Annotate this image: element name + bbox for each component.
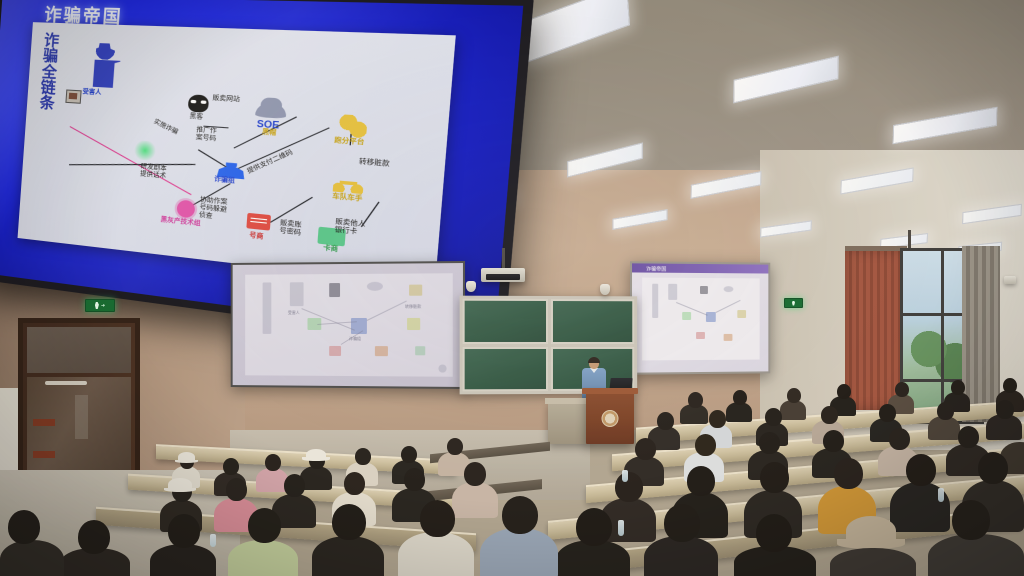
audience-member	[635, 438, 656, 460]
audience-member	[937, 402, 954, 420]
water-bottle	[210, 534, 216, 547]
audience-member	[733, 390, 747, 405]
ghost-figure	[375, 346, 388, 356]
audience-member	[928, 534, 1024, 576]
audience-member-cap	[306, 449, 326, 460]
water-bottle	[618, 520, 624, 536]
ceiling-projector	[481, 268, 525, 282]
blackboard-panel	[463, 299, 548, 344]
audience-member	[248, 508, 281, 543]
audience-member-cap	[846, 516, 896, 546]
audience-member	[420, 500, 455, 537]
audience-member	[787, 388, 801, 403]
audience-member	[398, 532, 474, 576]
node-label-sell-acct: 贩卖账 号密码	[279, 221, 302, 239]
audience-member	[226, 478, 247, 501]
right-projection-screen: 诈骗帝国	[630, 261, 770, 374]
audience-member	[978, 452, 1008, 484]
node-label-sell-site: 贩卖网站	[212, 96, 240, 105]
running-man-icon	[792, 301, 795, 306]
green-glow-icon	[132, 140, 157, 161]
audience-member	[615, 472, 643, 502]
node-label-fraud-group: 诈骗组	[214, 177, 235, 186]
audience-member-cap	[178, 452, 195, 462]
flow-edge-assist-to-group	[191, 183, 230, 206]
node-label-transfer: 转移赃款	[359, 159, 390, 169]
flow-edge-bankcard-to-runner	[361, 202, 380, 228]
audience-member	[834, 458, 863, 489]
audience-member	[452, 482, 498, 518]
wall-speaker	[600, 284, 610, 295]
audience-member	[447, 438, 463, 455]
audience-member	[0, 540, 64, 576]
audience-member	[502, 496, 538, 534]
door-glass-panel	[27, 327, 131, 373]
coins-icon	[338, 114, 367, 139]
audience-member	[344, 472, 365, 495]
audience-member	[726, 402, 752, 422]
audience-member	[823, 430, 844, 452]
node-label-pay-qr: 提供支付二维码	[246, 150, 294, 177]
audience-member	[709, 410, 726, 428]
audience-member	[830, 548, 916, 576]
audience-member	[228, 540, 298, 576]
node-label-tech-support: 黑灰产技术组	[160, 217, 200, 229]
flow-edge-numdealer-to-runner	[270, 197, 313, 223]
ghost-label: 转移赃款	[405, 304, 421, 310]
ghost-figure	[668, 284, 677, 300]
audience-member	[996, 400, 1014, 419]
ghost-figure	[367, 282, 383, 291]
ghost-badge	[438, 364, 446, 372]
node-label-commit-fraud: 实施诈骗	[152, 119, 179, 137]
door-notice-sign	[33, 419, 55, 426]
side-table	[548, 402, 590, 444]
node-label-assist: 协助作案 号码躲避 侦查	[199, 197, 228, 222]
audience-member	[889, 428, 910, 450]
green-card-icon	[317, 227, 346, 247]
audience-member	[765, 408, 782, 426]
blinds-track	[845, 246, 907, 251]
projection-header-title: 诈骗帝国	[632, 263, 768, 273]
flow-edge-group-to-coins	[234, 127, 329, 170]
audience-member	[1003, 378, 1017, 393]
ghost-label: 诈骗组	[349, 336, 361, 342]
ghost-figure	[706, 312, 716, 322]
audience-member	[78, 520, 110, 554]
vertical-char: 骗	[37, 48, 64, 65]
speaking-podium	[586, 392, 634, 444]
door-push-plate[interactable]	[75, 395, 88, 439]
audience-member	[906, 454, 936, 486]
audience-member	[644, 536, 718, 576]
audience-member	[958, 426, 979, 448]
audience-member	[404, 468, 425, 491]
flow-edge-hacker-to-site	[203, 126, 228, 129]
slide-header-title: 诈骗帝国	[44, 0, 124, 28]
red-card-icon	[246, 213, 271, 231]
ghost-figure	[682, 312, 691, 320]
water-bottle	[622, 470, 628, 482]
ghost-vertical-title	[263, 282, 272, 333]
projector-lens	[486, 274, 519, 280]
exit-sign	[784, 298, 803, 308]
audience-member	[895, 382, 909, 397]
exit-sign: ➜	[85, 299, 115, 312]
ghost-figure	[290, 282, 304, 306]
scooter-icon	[333, 176, 364, 195]
podium-top	[582, 388, 638, 394]
water-bottle	[938, 488, 944, 502]
audience-member	[355, 448, 371, 465]
exit-arrow-icon: ➜	[101, 303, 105, 309]
projector-mount-rod	[502, 248, 505, 270]
audience-member	[312, 536, 384, 576]
node-label-sell-bank: 贩卖他人 银行卡	[334, 219, 365, 238]
audience-member	[464, 462, 486, 486]
vertical-char: 条	[34, 95, 61, 112]
audience-member	[687, 466, 715, 496]
audience-member	[695, 434, 716, 456]
audience-member	[688, 392, 703, 408]
ghost-figure	[409, 285, 422, 296]
wall-speaker	[466, 281, 476, 292]
vertical-char: 链	[35, 79, 62, 96]
audience-member	[756, 514, 792, 552]
businessman-icon	[87, 43, 122, 88]
audience-member	[332, 504, 366, 540]
running-man-icon	[95, 302, 99, 309]
victim-photo-icon	[65, 89, 81, 103]
ghost-vertical-title	[652, 284, 658, 318]
audience-member	[150, 544, 216, 576]
ghost-figure	[329, 283, 340, 297]
hacker-mask-icon	[188, 94, 210, 113]
audience-member	[480, 528, 558, 576]
left-projection-screen: 受害人 诈骗组 转移赃款	[231, 261, 465, 389]
gear-icon	[176, 199, 195, 218]
blue-avatar-icon	[217, 151, 247, 180]
projection-header-bar: 诈骗帝国	[632, 263, 768, 273]
ghost-figure	[329, 346, 341, 356]
audience-member	[951, 380, 965, 395]
window-mullion	[941, 251, 944, 421]
node-label-seo-sub: 黑帽	[262, 130, 277, 139]
node-label-seo: SOE	[256, 118, 279, 131]
audience-member	[168, 514, 200, 548]
ghost-label: 受害人	[288, 310, 300, 316]
audience-member	[576, 508, 612, 546]
node-label-promote-num: 推广作 案号码	[195, 127, 217, 143]
audience-member	[265, 454, 281, 471]
flow-edge-hacker-to-group	[198, 149, 229, 169]
flow-edge-script-to-group	[69, 164, 195, 165]
vertical-char: 诈	[38, 33, 65, 50]
ghost-figure	[415, 346, 425, 355]
wall-speaker	[1004, 276, 1016, 284]
audience-member	[657, 412, 674, 430]
officer-hair	[588, 357, 600, 363]
node-label-coins: 跑分平台	[334, 138, 365, 148]
audience-member-cap	[168, 478, 192, 491]
ghost-figure	[724, 286, 734, 292]
audience-member	[780, 400, 806, 420]
flow-edge-fraud-to-victim	[69, 126, 191, 196]
audience-member	[8, 510, 40, 544]
audience-member	[837, 384, 851, 399]
audience-member	[952, 500, 990, 540]
audience-member	[821, 406, 838, 424]
blackboard-panel	[550, 299, 634, 344]
ghost-figure	[696, 332, 705, 339]
audience-member	[879, 404, 896, 422]
ghost-edge	[367, 301, 407, 321]
audience-member	[284, 474, 305, 497]
vertical-char: 全	[36, 64, 63, 81]
flow-edge-coins-to-runner	[350, 116, 354, 146]
ghost-figure	[724, 334, 733, 341]
left-projection-image: 受害人 诈骗组 转移赃款	[245, 273, 453, 376]
ghost-figure	[407, 318, 420, 330]
door-handle[interactable]	[45, 381, 87, 385]
ghost-figure	[700, 286, 708, 294]
blackboard-panel	[463, 347, 548, 392]
door-notice-sign	[33, 451, 55, 458]
ghost-edge	[676, 302, 708, 316]
node-label-script-dev: 研发剧本 提供话术	[140, 164, 167, 181]
audience-member	[760, 462, 789, 493]
right-projection-image	[642, 278, 760, 361]
node-label-hacker: 黑客	[189, 114, 203, 122]
audience-member	[759, 432, 780, 454]
node-label-victim: 受害人	[82, 89, 101, 97]
lecture-hall-photo: 诈骗帝国 诈 骗 全 链 条	[0, 0, 1024, 576]
slide-vertical-title: 诈 骗 全 链 条	[34, 33, 66, 113]
node-label-runner: 车队车手	[332, 194, 363, 205]
black-hat-icon	[255, 102, 287, 118]
ghost-figure	[737, 310, 746, 318]
slide-content-card: 诈 骗 全 链 条	[18, 22, 456, 287]
node-label-card-dealer: 卡商	[323, 245, 338, 254]
audience-member	[664, 504, 700, 542]
node-label-num-dealer: 号商	[249, 233, 264, 242]
flow-edge-seo-to-group	[234, 116, 297, 148]
audience-member	[401, 446, 417, 463]
podium-emblem-icon	[602, 410, 619, 427]
audience-member	[223, 458, 239, 475]
